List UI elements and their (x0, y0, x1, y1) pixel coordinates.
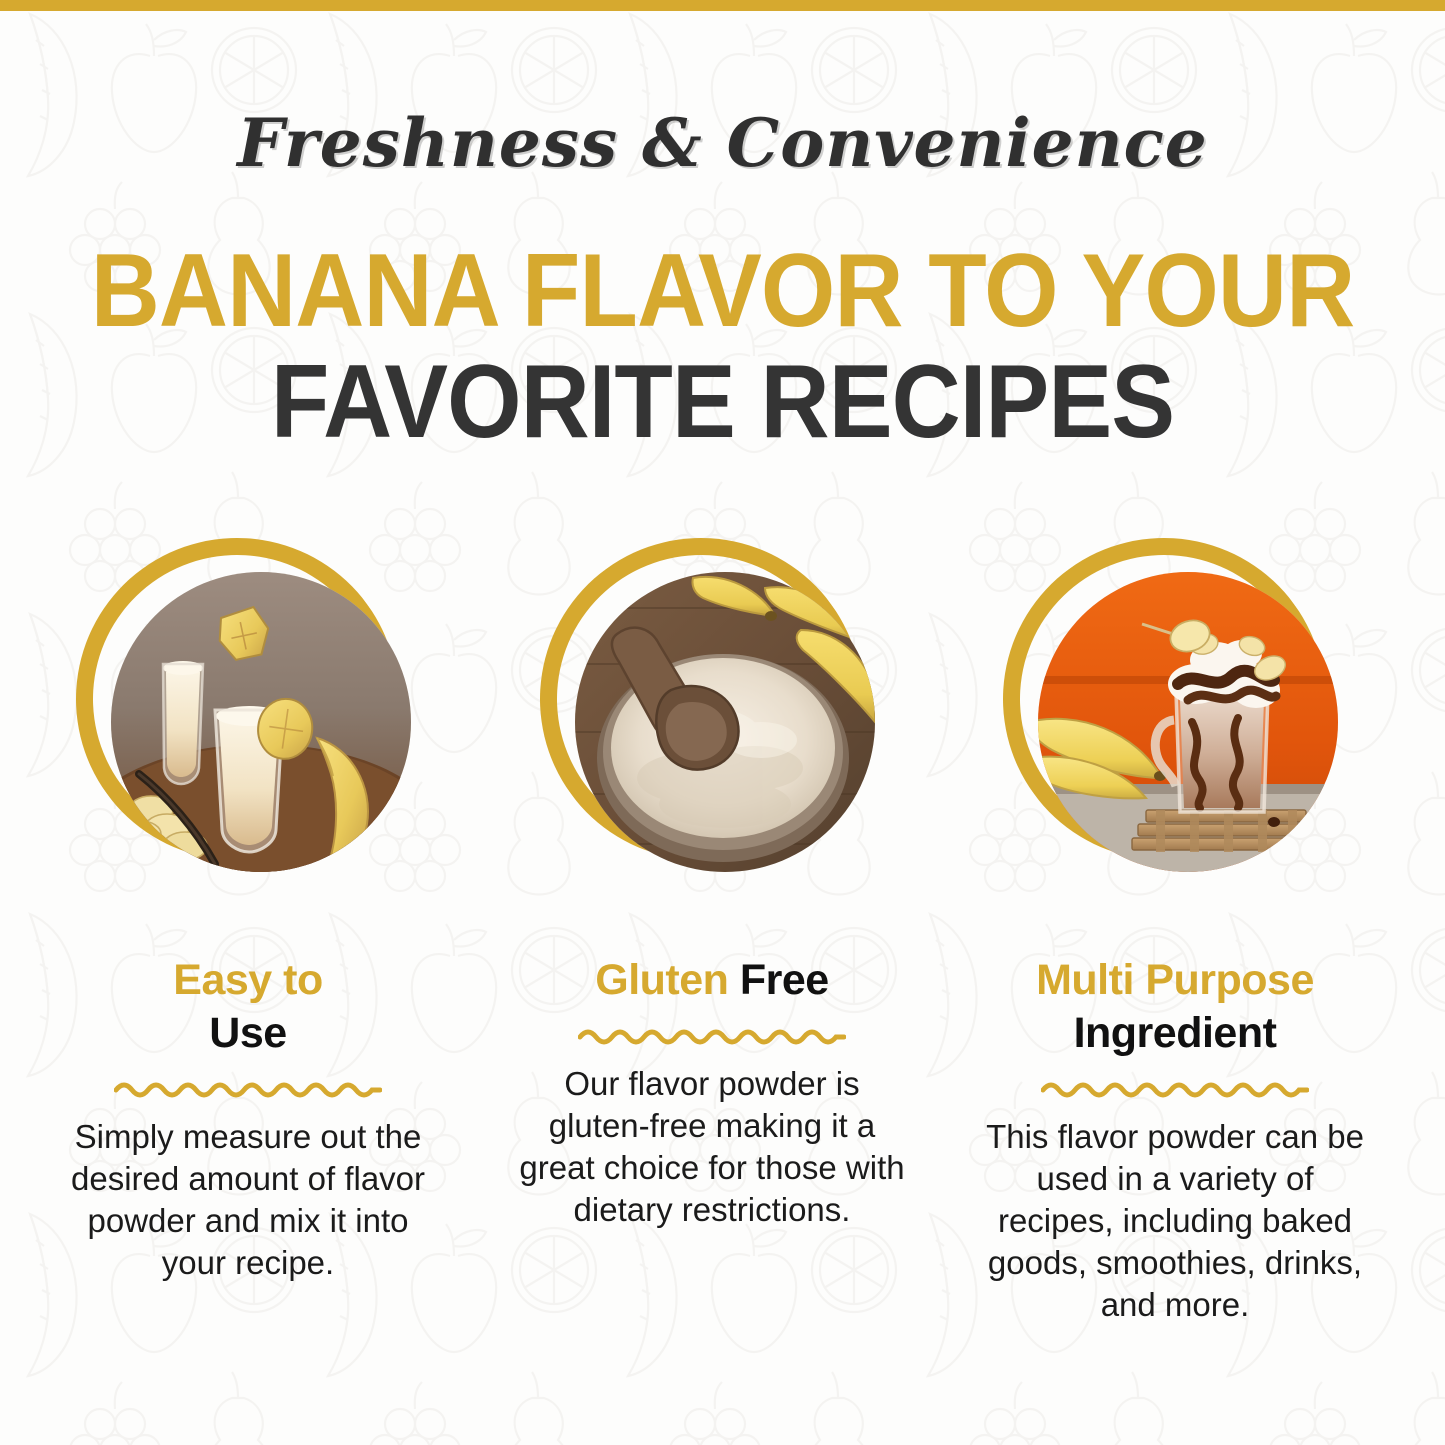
page-title-line-2: FAVORITE RECIPES (58, 350, 1387, 454)
top-accent-bar (0, 0, 1445, 11)
feature-title: Easy to Use (38, 954, 458, 1060)
wave-divider (502, 1025, 922, 1047)
feature-title-dark: Use (209, 1009, 286, 1057)
feature-title-gold: Multi Purpose (1036, 956, 1314, 1004)
feature-description: Simply measure out the desired amount of… (38, 1116, 458, 1284)
feature-title-gold: Easy to (173, 956, 322, 1004)
wave-divider (965, 1078, 1385, 1100)
infographic-page: Freshness & Convenience BANANA FLAVOR TO… (0, 0, 1445, 1445)
feature-card-gluten-free: Gluten Free Our flavor powder is gluten-… (502, 530, 922, 1231)
feature-image-banana-flour-bowl (575, 572, 875, 872)
wave-divider (38, 1078, 458, 1100)
feature-description: Our flavor powder is gluten-free making … (502, 1063, 922, 1231)
feature-title-dark: Ingredient (1074, 1009, 1277, 1057)
feature-title-dark: Free (740, 956, 829, 1004)
feature-image-milkshake-glasses (111, 572, 411, 872)
feature-media (965, 530, 1385, 930)
feature-image-chocolate-banana-shake (1038, 572, 1338, 872)
feature-media (502, 530, 922, 930)
eyebrow-script-heading: Freshness & Convenience (0, 104, 1445, 182)
page-title-line-1: BANANA FLAVOR TO YOUR (58, 239, 1387, 343)
feature-card-easy-to-use: Easy to Use Simply measure out the desir… (38, 530, 458, 1284)
feature-title-gold: Gluten (595, 956, 728, 1004)
feature-title: Gluten Free (502, 954, 922, 1007)
feature-card-multi-purpose-ingredient: Multi Purpose Ingredient This flavor pow… (965, 530, 1385, 1326)
feature-media (38, 530, 458, 930)
feature-title: Multi Purpose Ingredient (965, 954, 1385, 1060)
feature-description: This flavor powder can be used in a vari… (965, 1116, 1385, 1326)
